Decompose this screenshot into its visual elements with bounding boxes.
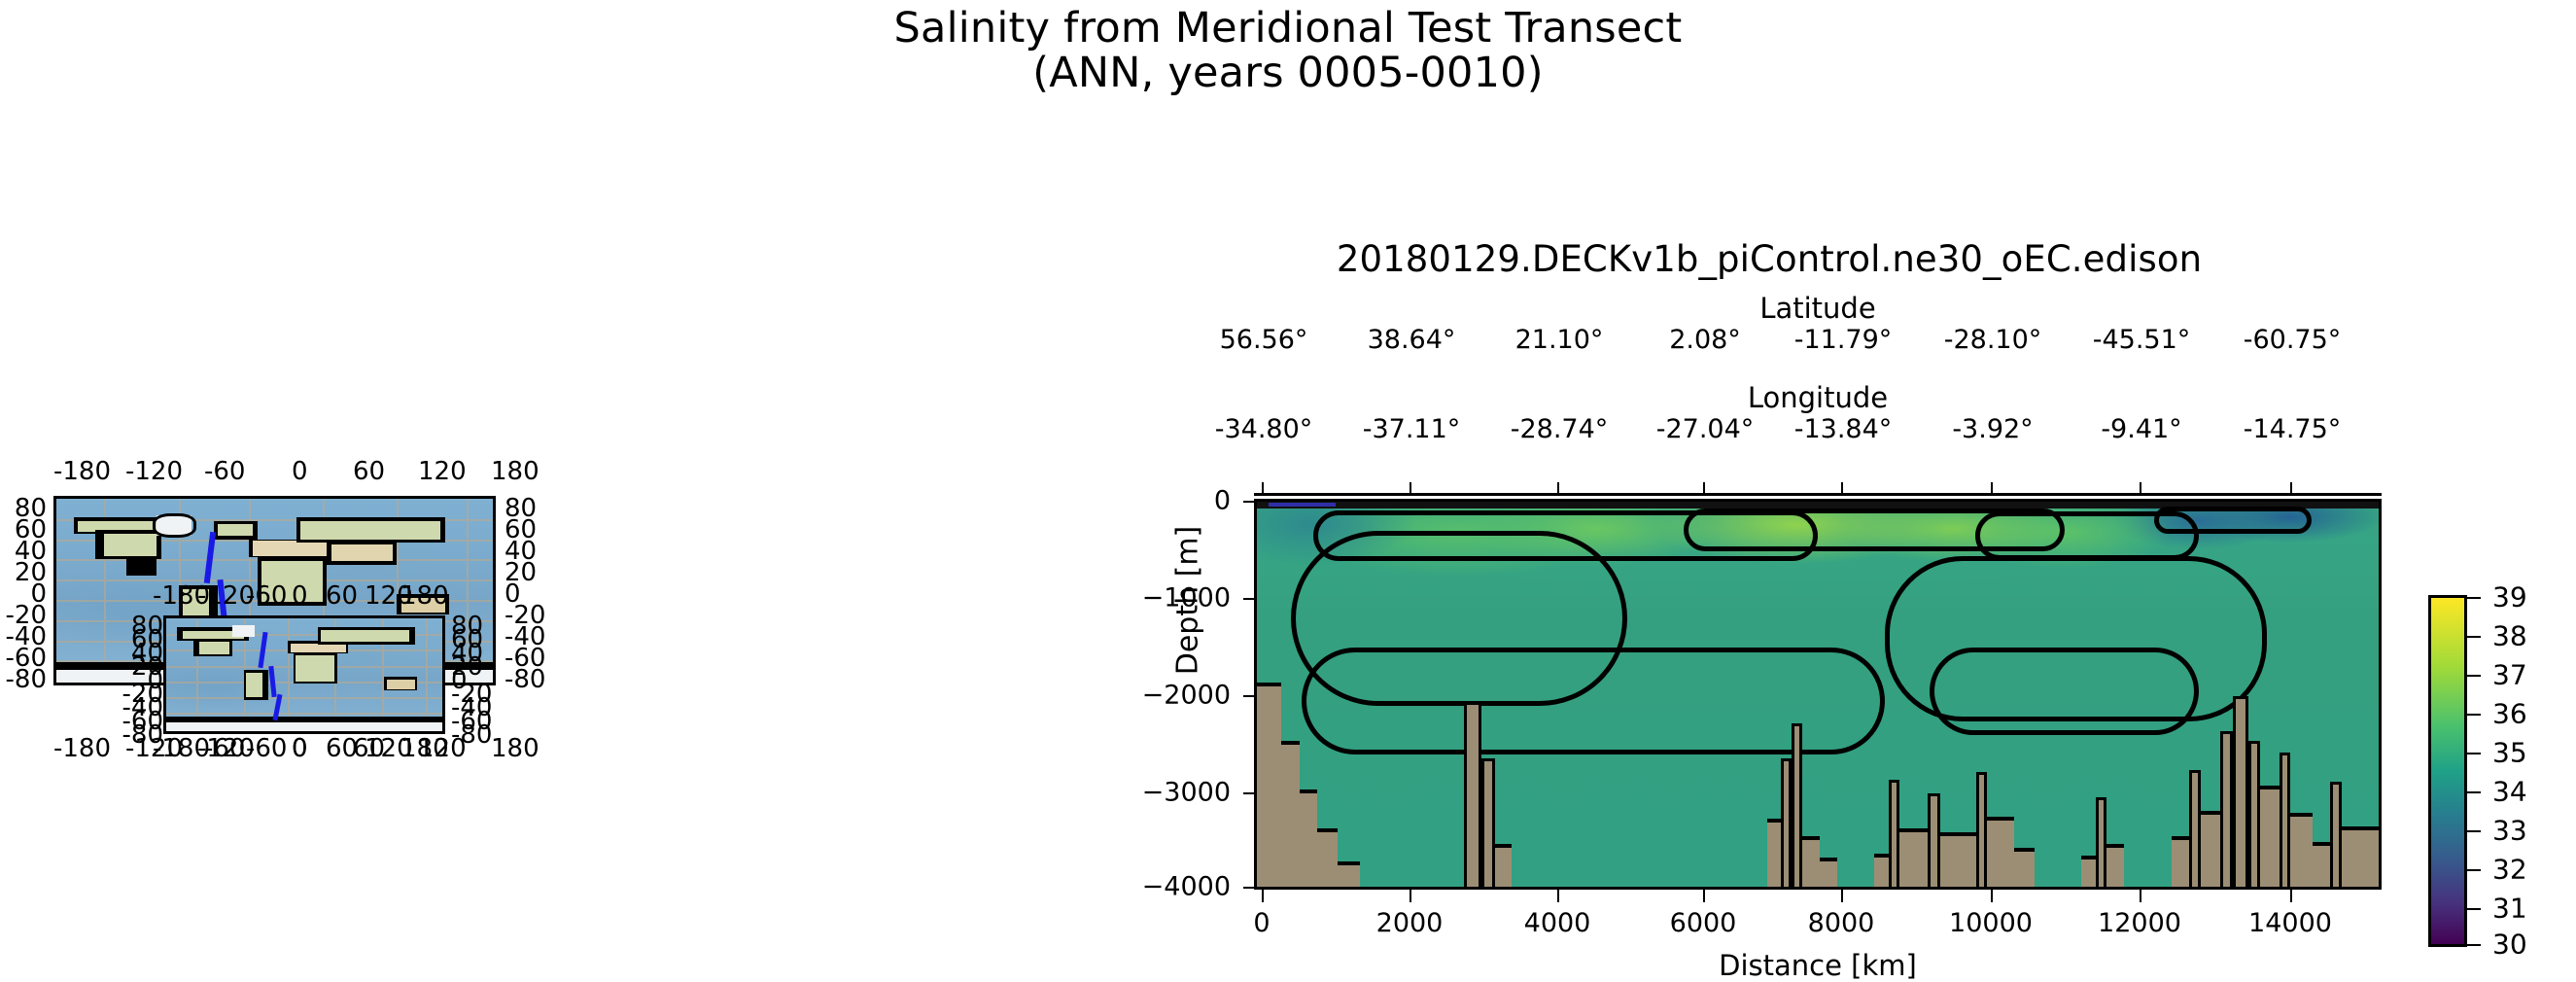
colorbar-tick: 31 (2492, 893, 2527, 925)
bathymetry (1940, 832, 1976, 887)
distance-tick-marks (1254, 890, 2382, 905)
map-lon-tick: 60 (353, 457, 385, 486)
colorbar-tick: 34 (2492, 776, 2527, 808)
bathymetry-peak (1928, 793, 1940, 887)
bathymetry (2313, 842, 2330, 887)
colorbar-tick: 37 (2492, 659, 2527, 691)
latitude-tick: 56.56° (1220, 325, 1308, 355)
longitude-tick: -9.41° (2101, 414, 2181, 444)
bathymetry (2290, 813, 2313, 887)
longitude-tick-row: -34.80° -37.11° -28.74° -27.04° -13.84° … (1254, 414, 2382, 447)
colorbar-tick: 38 (2492, 620, 2527, 652)
latitude-tick: -45.51° (2093, 325, 2191, 355)
overlay-lon-tick: 60 (326, 734, 358, 763)
bathymetry (1820, 858, 1836, 887)
transect-plot-title: 20180129.DECKv1b_piControl.ne30_oEC.edis… (1147, 238, 2391, 280)
longitude-tick: -3.92° (1952, 414, 2033, 444)
latitude-tick: 21.10° (1515, 325, 1604, 355)
longitude-tick: -37.11° (1363, 414, 1461, 444)
colorbar-tick: 33 (2492, 815, 2527, 847)
distance-tick: 2000 (1376, 908, 1444, 938)
bathymetry-peak (1889, 780, 1900, 887)
latitude-tick: 38.64° (1368, 325, 1456, 355)
overlay-map-left-lat-ticks: 80 60 40 20 0 -20 -40 -60 -80 (115, 615, 165, 734)
bathymetry (1281, 741, 1299, 887)
overlay-lon-tick: 0 (292, 734, 308, 763)
depth-tick: 0 (1214, 486, 1231, 516)
distance-tick: 14000 (2248, 908, 2332, 938)
map-lon-tick: 120 (418, 457, 467, 486)
bathymetry (2081, 856, 2096, 887)
bathymetry (1338, 861, 1360, 887)
overlay-map-top-lon-ticks: -180 -120 -60 0 60 120 180 (0, 581, 875, 611)
bathymetry-peak (1976, 772, 1988, 887)
overlay-lon-tick: 0 (292, 581, 308, 611)
distance-tick: 6000 (1670, 908, 1737, 938)
latitude-tick: -11.79° (1794, 325, 1893, 355)
map-lat-tick: -80 (6, 665, 47, 694)
latitude-tick: -60.75° (2244, 325, 2342, 355)
map-top-lon-ticks: -180 -120 -60 0 60 120 180 (0, 457, 875, 486)
colorbar-tick: 35 (2492, 737, 2527, 769)
bathymetry-peak (2189, 770, 2201, 887)
overlay-map-bottom-lon-ticks: -180 -120 -60 0 60 120 180 (0, 734, 875, 763)
bathymetry-peak (2330, 782, 2342, 887)
salinity-transect-panel: Latitude 56.56° 38.64° 21.10° 2.08° -11.… (1147, 292, 2576, 933)
bathymetry (1300, 789, 1317, 887)
transect-plot-area[interactable] (1254, 499, 2382, 890)
bathymetry (1874, 854, 1889, 887)
overlay-map-right-lat-ticks: 80 60 40 20 0 -20 -40 -60 -80 (449, 615, 507, 734)
latitude-tick: -28.10° (1944, 325, 2042, 355)
bathymetry (2260, 786, 2280, 887)
suptitle-line-1: Salinity from Meridional Test Transect (0, 8, 2576, 51)
map-lon-tick: -60 (204, 457, 245, 486)
map-lon-tick: 180 (491, 457, 540, 486)
overlay-lon-tick: -60 (246, 581, 287, 611)
bathymetry (2172, 836, 2189, 887)
longitude-tick: -14.75° (2244, 414, 2342, 444)
longitude-tick: -34.80° (1215, 414, 1313, 444)
depth-tick: −4000 (1142, 872, 1231, 902)
bathymetry-peak (2233, 696, 2248, 887)
salinity-contour (2154, 507, 2312, 534)
bathymetry (1495, 844, 1512, 887)
longitude-axis-label: Longitude (1254, 381, 2382, 414)
bathymetry (1987, 817, 2014, 887)
bathymetry (2014, 848, 2035, 887)
map-lon-tick: -180 (53, 457, 111, 486)
bathymetry-peak (1481, 758, 1495, 887)
world-map-locator-panel: -180 -120 -60 0 60 120 180 (0, 457, 875, 865)
map-lat-tick: -80 (505, 665, 545, 694)
longitude-tick: -27.04° (1656, 414, 1755, 444)
colorbar-tick-row: 39 38 37 36 35 34 33 32 31 30 (2467, 595, 2576, 947)
colorbar-tick: 30 (2492, 929, 2527, 961)
bathymetry-peak (1464, 702, 1480, 887)
bathymetry (1802, 836, 1820, 887)
longitude-tick: -13.84° (1794, 414, 1893, 444)
bathymetry-peak (1781, 758, 1793, 887)
overlay-lon-tick: 180 (400, 581, 449, 611)
bathymetry (1257, 683, 1281, 887)
overlay-lon-tick: 60 (326, 581, 358, 611)
distance-tick: 0 (1253, 908, 1270, 938)
bathymetry (1767, 819, 1781, 887)
distance-tick: 4000 (1524, 908, 1591, 938)
bathymetry (2342, 826, 2379, 887)
bathymetry-peak (2096, 797, 2106, 887)
colorbar-tick: 39 (2492, 581, 2527, 614)
bathymetry-peak (2220, 731, 2233, 887)
salinity-contour (1930, 648, 2199, 735)
overlay-lon-tick: 180 (400, 734, 449, 763)
distance-tick-row: 0 2000 4000 6000 8000 10000 12000 14000 (1254, 908, 2382, 941)
bathymetry (2106, 844, 2124, 887)
distance-tick: 8000 (1808, 908, 1875, 938)
longitude-tick: -28.74° (1511, 414, 1609, 444)
salinity-colorbar[interactable] (2428, 595, 2467, 947)
bathymetry (1899, 828, 1928, 887)
bathymetry (2201, 811, 2221, 887)
overlay-world-map[interactable] (163, 615, 445, 734)
surface-fresh-patch (1269, 503, 1336, 507)
latitude-tick: 2.08° (1669, 325, 1741, 355)
distance-tick: 10000 (1949, 908, 2033, 938)
bathymetry-peak (2248, 741, 2260, 887)
depth-axis-label: Depth [m] (1171, 397, 1205, 805)
distance-axis-label: Distance [km] (1254, 949, 2382, 982)
distance-tick: 12000 (2098, 908, 2181, 938)
top-axis-ruler (1254, 482, 2382, 496)
figure-suptitle: Salinity from Meridional Test Transect (… (0, 8, 2576, 95)
latitude-tick-row: 56.56° 38.64° 21.10° 2.08° -11.79° -28.1… (1254, 325, 2382, 358)
colorbar-tick: 32 (2492, 854, 2527, 886)
suptitle-line-2: (ANN, years 0005-0010) (0, 51, 2576, 95)
bathymetry (1317, 828, 1338, 887)
bathymetry-peak (1792, 723, 1801, 887)
map-lon-tick: 0 (292, 457, 308, 486)
overlay-lon-tick: -60 (246, 734, 287, 763)
latitude-axis-label: Latitude (1254, 292, 2382, 325)
map-lon-tick: -120 (125, 457, 183, 486)
bathymetry-peak (2280, 753, 2289, 887)
colorbar-tick: 36 (2492, 698, 2527, 730)
